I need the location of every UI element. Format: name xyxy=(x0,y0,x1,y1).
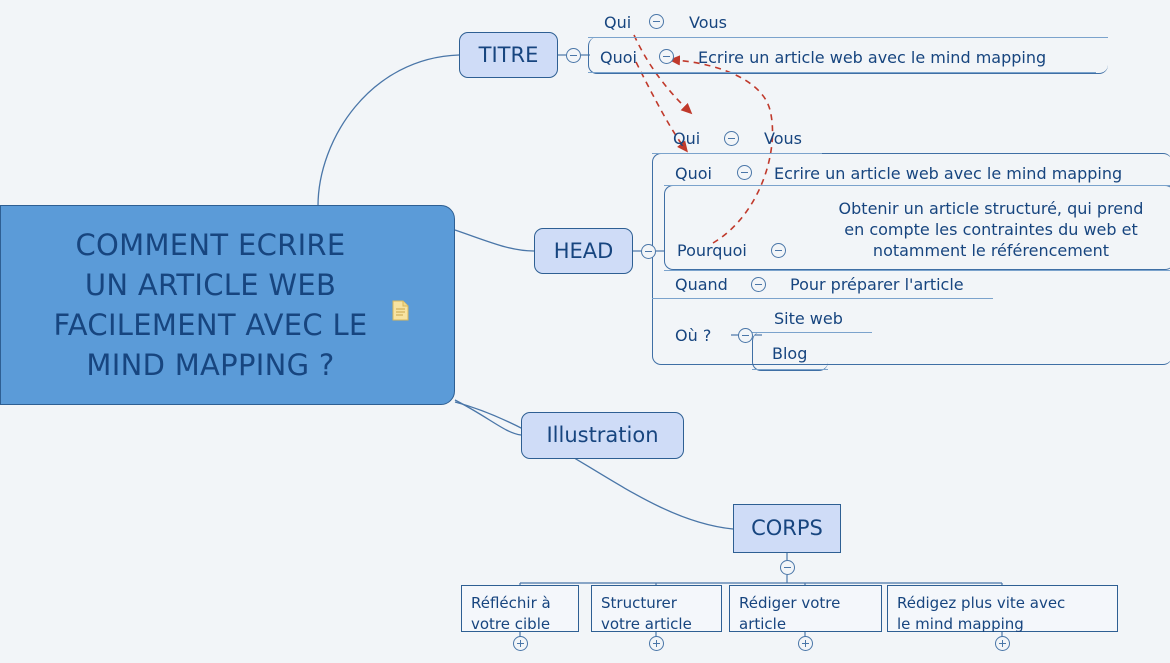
note-icon xyxy=(392,300,409,321)
head-row-key-0: Qui xyxy=(673,129,700,148)
head-row-underline-4 xyxy=(752,332,872,333)
collapse-toggle-titre[interactable] xyxy=(566,48,581,63)
corps-child-0[interactable]: Réfléchir à votre cible xyxy=(461,585,579,632)
collapse-toggle-head-quoi[interactable] xyxy=(737,165,752,180)
expand-toggle-corps-child-2[interactable] xyxy=(798,636,813,651)
titre-row-key-0: Qui xyxy=(604,13,631,32)
central-topic-label: COMMENT ECRIRE UN ARTICLE WEB FACILEMENT… xyxy=(53,225,401,385)
head-row-value-4: Site web xyxy=(774,309,843,328)
collapse-toggle-head-pourquoi[interactable] xyxy=(771,243,786,258)
mindmap-canvas: COMMENT ECRIRE UN ARTICLE WEB FACILEMENT… xyxy=(0,0,1170,663)
titre-row-underline-0 xyxy=(588,37,1108,38)
head-row-key-2: Pourquoi xyxy=(677,241,747,260)
central-topic[interactable]: COMMENT ECRIRE UN ARTICLE WEB FACILEMENT… xyxy=(0,205,455,405)
collapse-toggle-head-qui[interactable] xyxy=(724,131,739,146)
collapse-toggle-head-quand[interactable] xyxy=(751,277,766,292)
head-row-underline-1 xyxy=(664,185,1170,186)
titre-row-underline-1 xyxy=(588,72,1096,73)
head-row-key-4: Où ? xyxy=(675,326,711,345)
topic-titre-label: TITRE xyxy=(479,45,539,66)
head-row-value-1: Ecrire un article web avec le mind mappi… xyxy=(774,164,1122,183)
head-row-underline-0 xyxy=(652,153,822,154)
topic-illustration-label: Illustration xyxy=(546,425,658,446)
collapse-toggle-titre-quoi[interactable] xyxy=(659,49,674,64)
topic-head[interactable]: HEAD xyxy=(534,228,633,274)
ou-child-label-0: Blog xyxy=(772,344,807,363)
titre-row-key-1: Quoi xyxy=(600,48,637,67)
head-row-underline-2 xyxy=(664,270,1170,271)
expand-toggle-corps-child-0[interactable] xyxy=(513,636,528,651)
corps-child-3[interactable]: Rédigez plus vite avec le mind mapping xyxy=(887,585,1118,632)
expand-toggle-corps-child-3[interactable] xyxy=(995,636,1010,651)
collapse-toggle-titre-qui[interactable] xyxy=(649,14,664,29)
collapse-toggle-head[interactable] xyxy=(641,244,656,259)
titre-row-value-1: Ecrire un article web avec le mind mappi… xyxy=(698,48,1046,67)
topic-head-label: HEAD xyxy=(554,241,614,262)
collapse-toggle-head-ou[interactable] xyxy=(738,328,753,343)
topic-titre[interactable]: TITRE xyxy=(459,32,558,78)
corps-child-2[interactable]: Rédiger votre article xyxy=(729,585,882,632)
head-row-key-1: Quoi xyxy=(675,164,712,183)
topic-illustration[interactable]: Illustration xyxy=(521,412,684,459)
expand-toggle-corps-child-1[interactable] xyxy=(649,636,664,651)
head-row-value-3: Pour préparer l'article xyxy=(790,275,964,294)
collapse-toggle-corps[interactable] xyxy=(780,560,795,575)
head-row-value-0: Vous xyxy=(764,129,802,148)
topic-corps-label: CORPS xyxy=(751,518,823,539)
ou-child-underline-0 xyxy=(752,369,828,370)
head-row-value-2: Obtenir un article structuré, qui prend … xyxy=(811,198,1170,261)
topic-corps[interactable]: CORPS xyxy=(733,504,841,553)
titre-row-value-0: Vous xyxy=(689,13,727,32)
head-row-key-3: Quand xyxy=(675,275,728,294)
head-row-underline-3 xyxy=(652,298,993,299)
corps-child-1[interactable]: Structurer votre article xyxy=(591,585,722,632)
